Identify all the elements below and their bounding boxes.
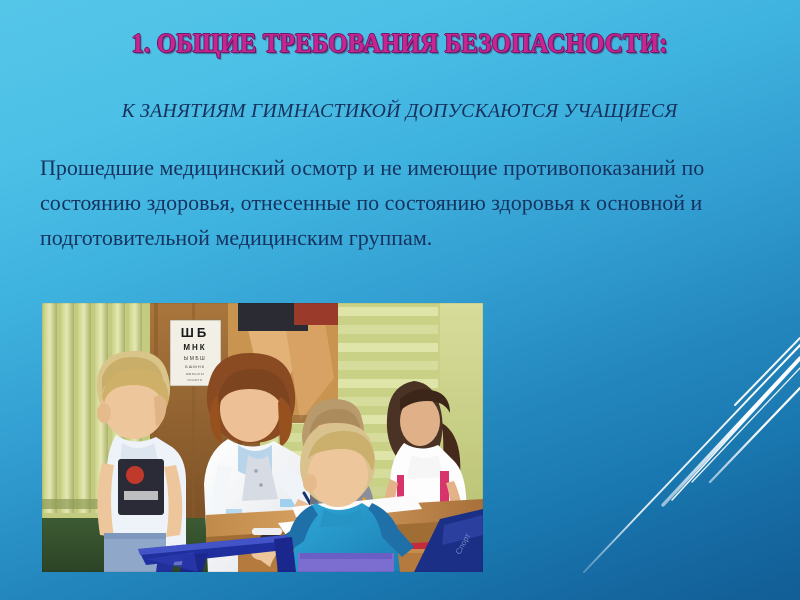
streak-line-long (584, 345, 800, 572)
photo-illustration: ШБ МНК ЫМБШ БШМНК ШБМНКЫ МКШБНЫ (42, 303, 483, 572)
slide-body-container: Прошедшие медицинский осмотр и не имеющи… (40, 150, 740, 255)
streak-line-medium-b (672, 360, 800, 500)
streak-line-right (710, 388, 800, 482)
slide-title-container: 1. ОБЩИЕ ТРЕБОВАНИЯ БЕЗОПАСНОСТИ: (0, 28, 800, 59)
presentation-slide: 1. ОБЩИЕ ТРЕБОВАНИЯ БЕЗОПАСНОСТИ: К ЗАНЯ… (0, 0, 800, 600)
svg-text:ЫМБШ: ЫМБШ (184, 356, 206, 362)
slide-subtitle: К ЗАНЯТИЯМ ГИМНАСТИКОЙ ДОПУСКАЮТСЯ УЧАЩИ… (122, 100, 678, 123)
svg-text:ШБ: ШБ (181, 325, 209, 340)
svg-text:МКШБНЫ: МКШБНЫ (187, 379, 202, 382)
streak-group (584, 338, 800, 572)
svg-text:МНК: МНК (183, 343, 206, 352)
slide-subtitle-container: К ЗАНЯТИЯМ ГИМНАСТИКОЙ ДОПУСКАЮТСЯ УЧАЩИ… (0, 100, 800, 123)
streak-line-medium-a (663, 358, 800, 505)
photo-medical-examination: ШБ МНК ЫМБШ БШМНК ШБМНКЫ МКШБНЫ (42, 303, 483, 572)
streak-line-far-right (748, 346, 800, 399)
slide-body-text: Прошедшие медицинский осмотр и не имеющи… (40, 150, 740, 255)
streak-line-upper (735, 338, 800, 405)
slide-title: 1. ОБЩИЕ ТРЕБОВАНИЯ БЕЗОПАСНОСТИ: (132, 28, 668, 59)
svg-text:БШМНК: БШМНК (185, 364, 205, 369)
streak-line-short-a (692, 368, 800, 482)
svg-text:ШБМНКЫ: ШБМНКЫ (186, 372, 205, 376)
